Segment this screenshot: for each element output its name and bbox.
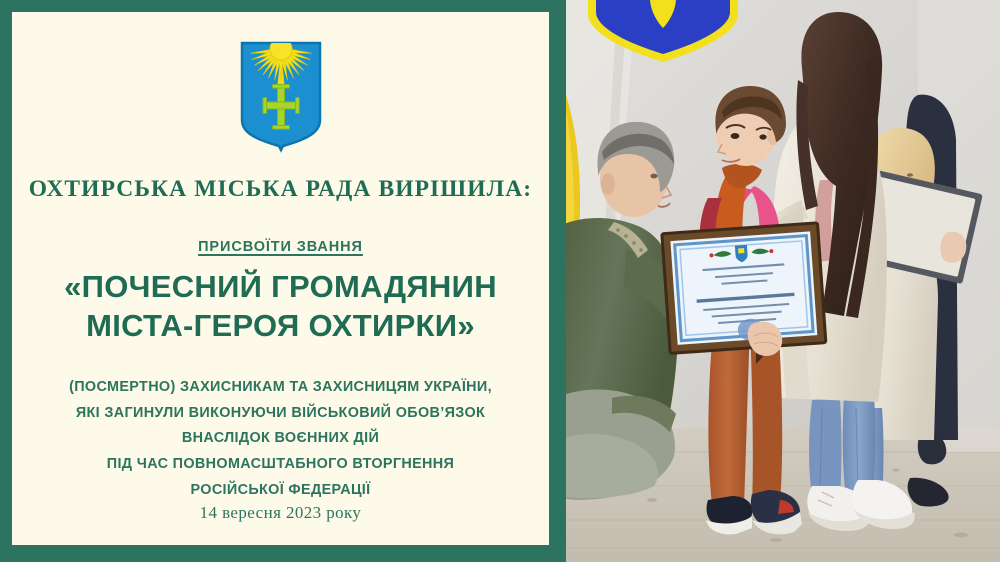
award-subtitle-label: ПРИСВОЇТИ ЗВАННЯ — [198, 239, 363, 255]
ceremony-photo — [566, 0, 1000, 562]
award-description: (ПОСМЕРТНО) ЗАХИСНИКАМ ТА ЗАХИСНИЦЯМ УКР… — [69, 375, 492, 503]
award-title: «ПОЧЕСНИЙ ГРОМАДЯНИН МІСТА-ГЕРОЯ ОХТИРКИ… — [64, 267, 497, 345]
okhtyrka-coat-of-arms-icon — [238, 40, 324, 158]
framed-certificate — [662, 223, 826, 354]
text-panel-inner: ОХТИРСЬКА МІСЬКА РАДА ВИРІШИЛА: ПРИСВОЇТ… — [12, 12, 549, 545]
decision-date: 14 вересня 2023 року — [200, 503, 362, 523]
text-panel: ОХТИРСЬКА МІСЬКА РАДА ВИРІШИЛА: ПРИСВОЇТ… — [0, 0, 566, 562]
poster-root: ОХТИРСЬКА МІСЬКА РАДА ВИРІШИЛА: ПРИСВОЇТ… — [0, 0, 1000, 562]
page-title: ОХТИРСЬКА МІСЬКА РАДА ВИРІШИЛА: — [29, 176, 532, 203]
